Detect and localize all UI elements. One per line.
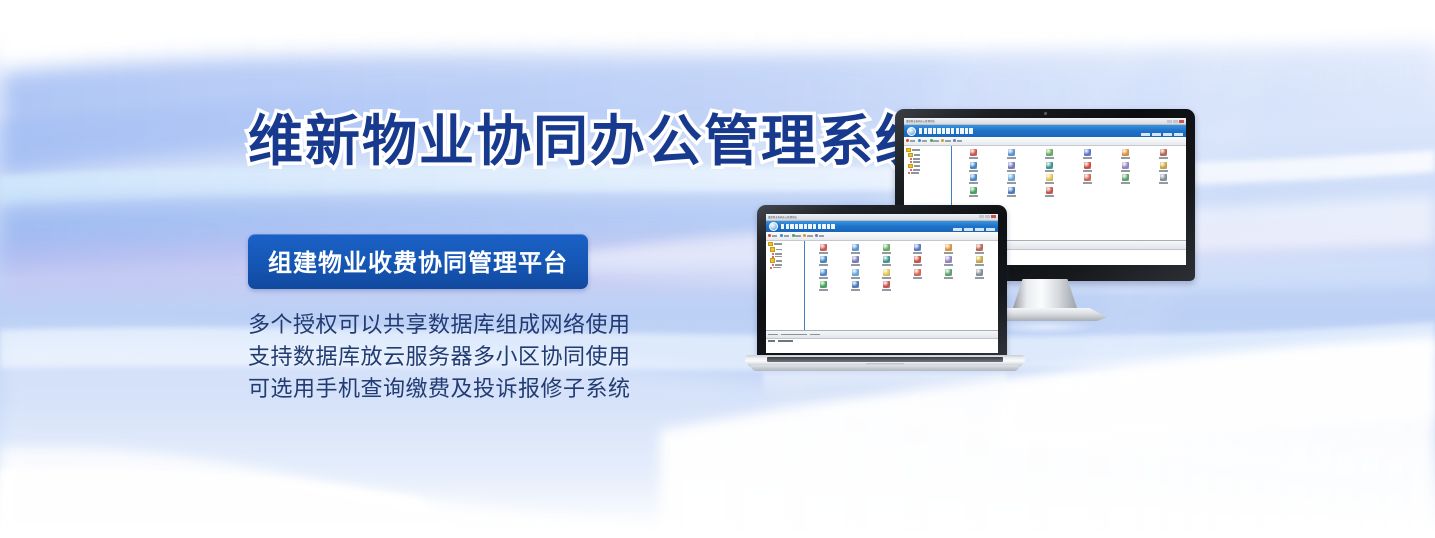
module-icon [1008, 162, 1015, 169]
module-item-17[interactable] [1146, 174, 1182, 184]
module-label [819, 252, 828, 254]
module-label [1083, 170, 1092, 172]
module-label [882, 277, 891, 279]
module-label [1045, 157, 1054, 159]
module-icon [976, 269, 983, 276]
toolbar-icon [780, 234, 783, 237]
data-list-panel [766, 330, 998, 353]
tree-item-6[interactable] [768, 267, 803, 269]
toolbar-button-4[interactable] [815, 234, 824, 237]
module-icon [1160, 162, 1167, 169]
tree-item-label [775, 256, 782, 258]
laptop-keyboard [767, 357, 1003, 362]
tree-item-label [913, 158, 920, 160]
module-icon [945, 269, 952, 276]
window-maximize-button[interactable] [985, 215, 990, 218]
list-column-header [810, 334, 820, 336]
module-item-11[interactable] [965, 256, 994, 266]
module-item-14[interactable] [872, 269, 901, 279]
tree-leaf-icon [772, 253, 774, 255]
module-item-11[interactable] [1146, 162, 1182, 172]
module-item-4[interactable] [934, 244, 963, 254]
tree-item-5[interactable] [768, 264, 803, 266]
toolbar-icon [792, 234, 795, 237]
toolbar-button-2[interactable] [792, 234, 801, 237]
toolbar-label [933, 140, 939, 142]
module-label [819, 277, 828, 279]
toolbar-label [807, 235, 813, 237]
title-glyph [951, 128, 954, 133]
tree-item-label [775, 264, 782, 266]
module-icon [976, 256, 983, 263]
module-icon-grid [805, 241, 998, 330]
laptop-lid: 维新物业协同办公管理系统 [757, 205, 1007, 360]
window-close-button[interactable] [991, 215, 996, 218]
app-body [766, 241, 998, 330]
module-label [1007, 157, 1016, 159]
toolbar-button-4[interactable] [953, 139, 962, 142]
module-label [882, 264, 891, 266]
module-label [1045, 182, 1054, 184]
window-controls [979, 215, 996, 218]
toolbar-label [957, 140, 963, 142]
toolbar-label [819, 235, 825, 237]
title-glyph [818, 224, 821, 229]
module-icon [1084, 149, 1091, 156]
module-item-12[interactable] [956, 174, 992, 184]
module-label [851, 277, 860, 279]
toolbar-button-2[interactable] [930, 139, 939, 142]
title-glyph [937, 128, 940, 133]
module-item-3[interactable] [1070, 149, 1106, 159]
title-glyph [965, 128, 968, 133]
tree-item-4[interactable] [768, 258, 803, 262]
toolbar-label [922, 140, 928, 142]
module-icon [1084, 174, 1091, 181]
module-item-20[interactable] [872, 281, 901, 291]
module-label [944, 264, 953, 266]
toolbar-icon [803, 234, 806, 237]
toolbar-icon [953, 139, 956, 142]
module-item-9[interactable] [1070, 162, 1106, 172]
window-title: 维新物业协同办公管理系统 [768, 215, 977, 219]
module-label [975, 252, 984, 254]
module-icon [1008, 187, 1015, 194]
toolbar-button-1[interactable] [918, 139, 927, 142]
toolbar-label [795, 235, 801, 237]
module-item-6[interactable] [956, 162, 992, 172]
module-icon [914, 256, 921, 263]
toolbar-label [784, 235, 790, 237]
header-link[interactable] [953, 228, 962, 231]
module-icon [1046, 149, 1053, 156]
window-maximize-button[interactable] [1173, 120, 1178, 123]
module-label [1007, 195, 1016, 197]
app-window-laptop: 维新物业协同办公管理系统 [766, 214, 998, 353]
title-glyph [933, 128, 936, 133]
module-label [975, 277, 984, 279]
title-glyph [827, 224, 830, 229]
device-mockups: 维新物业协同办公管理系统 维新物业协同办公管理系统 [745, 95, 1195, 405]
promo-banner: 维新物业协同办公管理系统 维新物业协同办公管理系统 组建物业收费协同管理平台 多… [0, 0, 1435, 538]
module-icon [945, 256, 952, 263]
module-icon [852, 256, 859, 263]
module-item-1[interactable] [994, 149, 1030, 159]
module-item-9[interactable] [903, 256, 932, 266]
tree-item-label [911, 172, 919, 174]
tree-item-label [774, 243, 782, 245]
module-label [969, 170, 978, 172]
tree-leaf-icon [772, 264, 774, 266]
module-item-6[interactable] [809, 256, 838, 266]
list-column-header [768, 334, 778, 336]
tree-item-5[interactable] [906, 169, 950, 171]
window-minimize-button[interactable] [979, 215, 984, 218]
module-label [819, 264, 828, 266]
tree-item-label [914, 165, 920, 167]
module-item-18[interactable] [809, 281, 838, 291]
module-icon [914, 244, 921, 251]
module-icon [976, 244, 983, 251]
title-glyph [822, 224, 825, 229]
module-label [1007, 170, 1016, 172]
module-item-2[interactable] [1032, 149, 1068, 159]
module-item-5[interactable] [1146, 149, 1182, 159]
toolbar-icon [906, 139, 909, 142]
app-header-banner [766, 221, 998, 232]
module-label [851, 252, 860, 254]
title-glyph [781, 224, 784, 229]
module-icon [945, 244, 952, 251]
module-label [1007, 182, 1016, 184]
module-item-16[interactable] [1108, 174, 1144, 184]
module-label [975, 264, 984, 266]
window-close-button[interactable] [1179, 120, 1184, 123]
title-glyph [786, 224, 789, 229]
module-icon [883, 281, 890, 288]
title-glyph [799, 224, 802, 229]
laptop-screen: 维新物业协同办公管理系统 [766, 214, 998, 353]
module-label [1121, 157, 1130, 159]
module-label [913, 252, 922, 254]
module-item-8[interactable] [872, 256, 901, 266]
status-badge: 组建物业收费协同管理平台 [248, 234, 588, 289]
title-glyph [813, 224, 816, 229]
tree-leaf-icon [908, 172, 910, 174]
module-icon [820, 269, 827, 276]
module-icon [1008, 149, 1015, 156]
module-label [969, 182, 978, 184]
title-glyph [808, 224, 811, 229]
module-icon [852, 281, 859, 288]
folder-icon [908, 164, 913, 168]
table-row[interactable] [766, 339, 998, 343]
module-label [1083, 157, 1092, 159]
module-item-19[interactable] [994, 187, 1030, 197]
title-glyph [969, 128, 972, 133]
tree-item-label [914, 154, 920, 156]
tree-leaf-icon [910, 158, 912, 160]
module-item-15[interactable] [903, 269, 932, 279]
module-icon [1122, 162, 1129, 169]
module-label [1083, 182, 1092, 184]
toolbar-button-0[interactable] [906, 139, 915, 142]
module-icon [820, 244, 827, 251]
window-minimize-button[interactable] [1167, 120, 1172, 123]
module-item-13[interactable] [841, 269, 870, 279]
tree-item-3[interactable] [906, 161, 950, 163]
laptop-base [751, 365, 1019, 371]
title-glyph [919, 128, 922, 133]
title-glyph [960, 128, 963, 133]
module-icon [970, 149, 977, 156]
window-title: 维新物业协同办公管理系统 [906, 119, 1165, 123]
header-link[interactable] [986, 228, 995, 231]
toolbar-icon [930, 139, 933, 142]
module-item-2[interactable] [872, 244, 901, 254]
module-item-7[interactable] [841, 256, 870, 266]
module-item-5[interactable] [965, 244, 994, 254]
webcam-icon [1044, 112, 1047, 115]
app-header-links [953, 228, 995, 231]
tree-item-label [776, 260, 782, 262]
module-icon [1046, 174, 1053, 181]
tree-leaf-icon [772, 256, 774, 258]
laptop-computer: 维新物业协同办公管理系统 [745, 205, 1025, 400]
module-label [969, 157, 978, 159]
toolbar-icon [768, 234, 771, 237]
module-icon [852, 244, 859, 251]
folder-icon [906, 148, 911, 152]
header-link[interactable] [1174, 133, 1183, 136]
module-icon [883, 256, 890, 263]
tree-item-label [913, 169, 920, 171]
module-icon [1160, 174, 1167, 181]
module-label [1121, 170, 1130, 172]
list-column-header [781, 334, 807, 336]
list-header-row [766, 331, 998, 340]
title-glyph [946, 128, 949, 133]
toolbar-button-3[interactable] [803, 234, 812, 237]
module-item-15[interactable] [1070, 174, 1106, 184]
module-item-8[interactable] [1032, 162, 1068, 172]
title-glyph [928, 128, 931, 133]
title-glyph [804, 224, 807, 229]
tree-item-2[interactable] [906, 158, 950, 160]
module-label [851, 289, 860, 291]
module-icon [1122, 174, 1129, 181]
module-item-3[interactable] [903, 244, 932, 254]
tree-item-label [913, 161, 920, 163]
module-item-10[interactable] [1108, 162, 1144, 172]
module-icon [1084, 162, 1091, 169]
table-cell [778, 340, 793, 342]
window-controls [1167, 120, 1184, 123]
title-glyph [956, 128, 959, 133]
module-label [969, 195, 978, 197]
toolbar-button-1[interactable] [780, 234, 789, 237]
module-item-19[interactable] [841, 281, 870, 291]
module-item-16[interactable] [934, 269, 963, 279]
header-link[interactable] [1152, 133, 1161, 136]
tree-item-0[interactable] [768, 242, 803, 246]
module-label [913, 264, 922, 266]
tree-item-4[interactable] [906, 164, 950, 168]
app-header-title [919, 128, 973, 133]
module-label [944, 252, 953, 254]
tree-leaf-icon [910, 169, 912, 171]
tree-item-3[interactable] [768, 256, 803, 258]
toolbar-label [772, 235, 778, 237]
module-item-4[interactable] [1108, 149, 1144, 159]
title-glyph [924, 128, 927, 133]
title-glyph [795, 224, 798, 229]
module-item-17[interactable] [965, 269, 994, 279]
module-item-13[interactable] [994, 174, 1030, 184]
module-label [944, 277, 953, 279]
tree-leaf-icon [770, 267, 772, 269]
module-item-1[interactable] [841, 244, 870, 254]
module-icon [1046, 162, 1053, 169]
toolbar-button-3[interactable] [941, 139, 950, 142]
module-label [851, 264, 860, 266]
module-icon [820, 256, 827, 263]
app-logo-icon [907, 127, 916, 136]
module-item-7[interactable] [994, 162, 1030, 172]
module-icon [820, 281, 827, 288]
app-header-banner [904, 125, 1186, 137]
app-logo-icon [769, 222, 778, 231]
module-icon [970, 174, 977, 181]
app-toolbar [766, 232, 998, 241]
module-icon [1046, 187, 1053, 194]
app-header-title [781, 224, 835, 229]
folder-icon [908, 153, 913, 157]
toolbar-icon [941, 139, 944, 142]
tree-item-0[interactable] [906, 148, 950, 152]
folder-icon [770, 247, 775, 251]
header-link[interactable] [1163, 133, 1172, 136]
module-item-0[interactable] [809, 244, 838, 254]
module-icon [914, 269, 921, 276]
toolbar-label [910, 140, 916, 142]
module-item-10[interactable] [934, 256, 963, 266]
title-glyph [790, 224, 793, 229]
tree-item-2[interactable] [768, 253, 803, 255]
folder-icon [770, 258, 775, 262]
module-label [1045, 195, 1054, 197]
module-item-12[interactable] [809, 269, 838, 279]
app-toolbar [904, 137, 1186, 146]
title-glyph [942, 128, 945, 133]
tree-item-label [775, 253, 782, 255]
module-icon [1160, 149, 1167, 156]
module-item-14[interactable] [1032, 174, 1068, 184]
folder-icon [768, 242, 773, 246]
module-item-18[interactable] [956, 187, 992, 197]
app-header-links [1141, 133, 1183, 136]
module-icon [1122, 149, 1129, 156]
header-link[interactable] [964, 228, 973, 231]
module-label [1159, 182, 1168, 184]
tree-leaf-icon [910, 161, 912, 163]
title-glyph [831, 224, 834, 229]
header-link[interactable] [975, 228, 984, 231]
module-label [882, 289, 891, 291]
tree-item-label [912, 149, 920, 151]
module-item-0[interactable] [956, 149, 992, 159]
module-label [913, 277, 922, 279]
navigation-tree [766, 241, 805, 330]
module-icon [1008, 174, 1015, 181]
module-label [1045, 170, 1054, 172]
tree-item-1[interactable] [906, 153, 950, 157]
module-icon [970, 162, 977, 169]
module-label [1121, 182, 1130, 184]
tree-item-label [776, 249, 782, 251]
module-icon [852, 269, 859, 276]
header-link[interactable] [1141, 133, 1150, 136]
tree-item-label [773, 267, 781, 269]
module-label [882, 252, 891, 254]
module-label [1159, 170, 1168, 172]
module-icon [883, 269, 890, 276]
toolbar-label [945, 140, 951, 142]
toolbar-icon [918, 139, 921, 142]
tree-item-1[interactable] [768, 247, 803, 251]
laptop-reflection [763, 373, 1007, 399]
toolbar-button-0[interactable] [768, 234, 777, 237]
module-icon [970, 187, 977, 194]
module-item-20[interactable] [1032, 187, 1068, 197]
tree-item-6[interactable] [906, 172, 950, 174]
toolbar-icon [815, 234, 818, 237]
module-label [1159, 157, 1168, 159]
module-label [819, 289, 828, 291]
module-icon [883, 244, 890, 251]
table-cell [768, 340, 775, 342]
